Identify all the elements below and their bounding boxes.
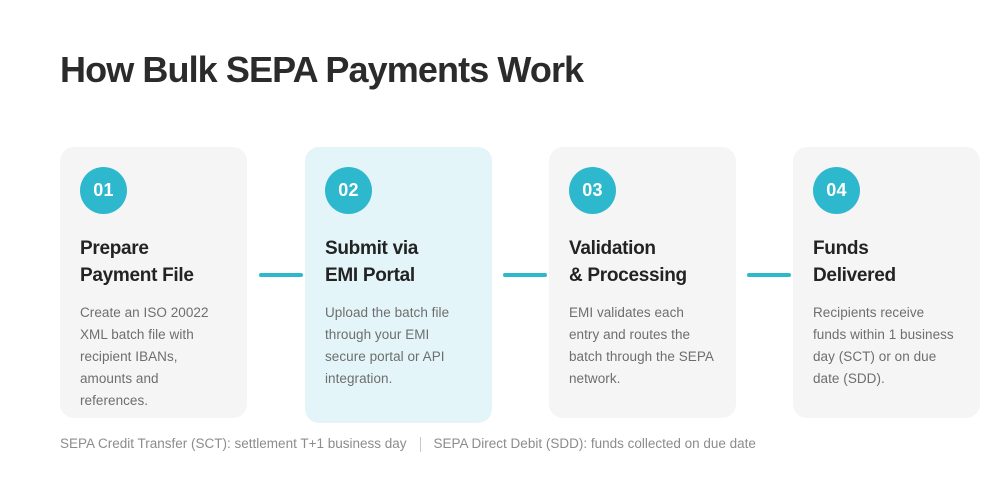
step-card-4[interactable]: 04 Funds Delivered Recipients receive fu… [793,147,980,418]
footnote-sdd: SEPA Direct Debit (SDD): funds collected… [434,434,756,454]
step-title-1-line2: Payment File [80,262,227,289]
connector-line-3-4 [747,273,791,277]
step-title-2-line2: EMI Portal [325,262,472,289]
step-title-2: Submit via EMI Portal [325,235,472,289]
infographic-root: How Bulk SEPA Payments Work 01 Prepare P… [0,0,1000,480]
step-card-2[interactable]: 02 Submit via EMI Portal Upload the batc… [305,147,492,423]
step-card-1[interactable]: 01 Prepare Payment File Create an ISO 20… [60,147,247,418]
step-title-3: Validation & Processing [569,235,716,289]
step-title-3-line2: & Processing [569,262,716,289]
step-title-4: Funds Delivered [813,235,960,289]
step-title-1: Prepare Payment File [80,235,227,289]
page-title: How Bulk SEPA Payments Work [60,48,583,92]
steps-container: 01 Prepare Payment File Create an ISO 20… [60,147,980,425]
step-title-1-line1: Prepare [80,235,227,262]
footnote-divider [420,437,421,452]
step-title-3-line1: Validation [569,235,716,262]
step-number-badge-3: 03 [569,167,616,214]
step-title-4-line1: Funds [813,235,960,262]
step-body-1: Create an ISO 20022 XML batch file with … [80,302,227,412]
step-number-badge-1: 01 [80,167,127,214]
step-body-4: Recipients receive funds within 1 busine… [813,302,960,390]
step-body-2: Upload the batch file through your EMI s… [325,302,472,390]
connector-line-1-2 [259,273,303,277]
step-card-3[interactable]: 03 Validation & Processing EMI validates… [549,147,736,418]
connector-line-2-3 [503,273,547,277]
step-body-3: EMI validates each entry and routes the … [569,302,716,390]
footnote: SEPA Credit Transfer (SCT): settlement T… [60,434,756,454]
footnote-sct: SEPA Credit Transfer (SCT): settlement T… [60,434,407,454]
step-title-4-line2: Delivered [813,262,960,289]
step-number-badge-2: 02 [325,167,372,214]
step-title-2-line1: Submit via [325,235,472,262]
step-number-badge-4: 04 [813,167,860,214]
